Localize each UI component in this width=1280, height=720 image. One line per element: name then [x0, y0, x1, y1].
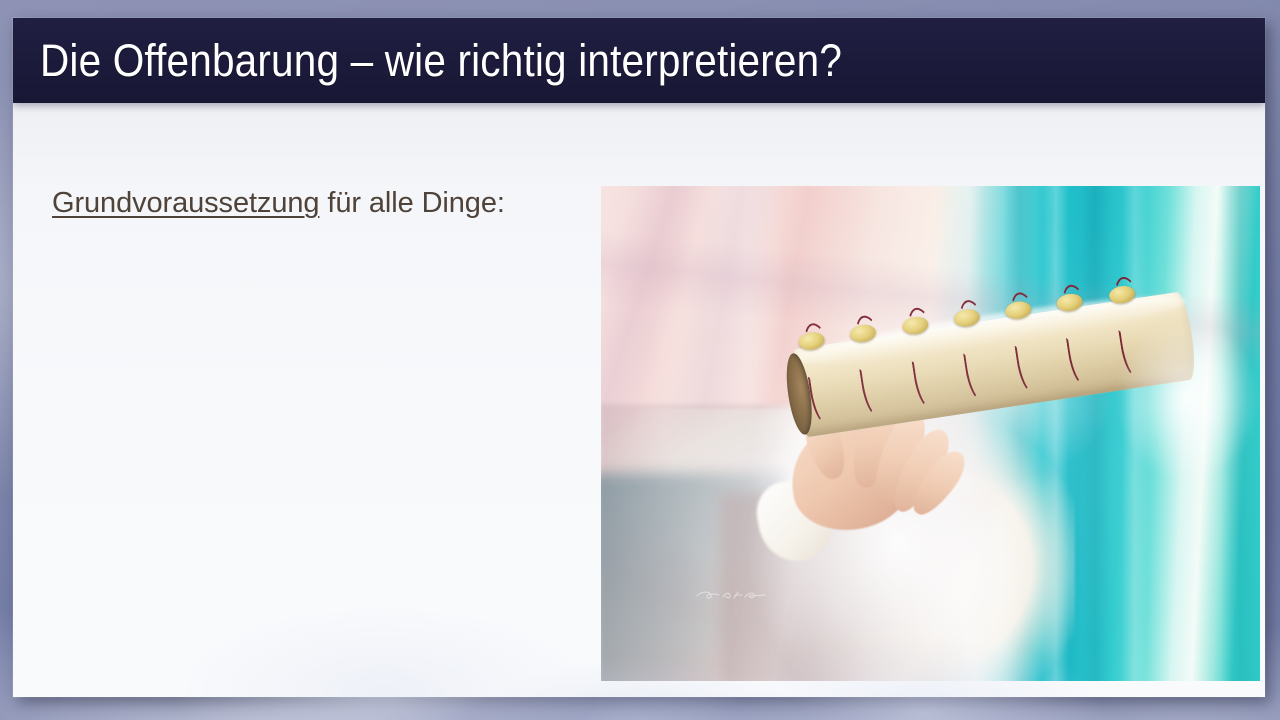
- painting-scroll-halo: [1115, 315, 1260, 483]
- desktop-backdrop: Die Offenbarung – wie richtig interpreti…: [0, 0, 1280, 720]
- body-text-rest: für alle Dinge:: [319, 187, 504, 219]
- presentation-slide: Die Offenbarung – wie richtig interpreti…: [13, 18, 1265, 697]
- body-text-underlined: Grundvoraussetzung: [52, 187, 319, 219]
- slide-body-text: Grundvoraussetzung für alle Dinge:: [52, 187, 505, 220]
- slide-image-scroll-with-seven-seals: [601, 186, 1260, 681]
- slide-title: Die Offenbarung – wie richtig interpreti…: [40, 35, 842, 87]
- artist-signature: [693, 589, 803, 601]
- slide-title-bar: Die Offenbarung – wie richtig interpreti…: [13, 18, 1265, 103]
